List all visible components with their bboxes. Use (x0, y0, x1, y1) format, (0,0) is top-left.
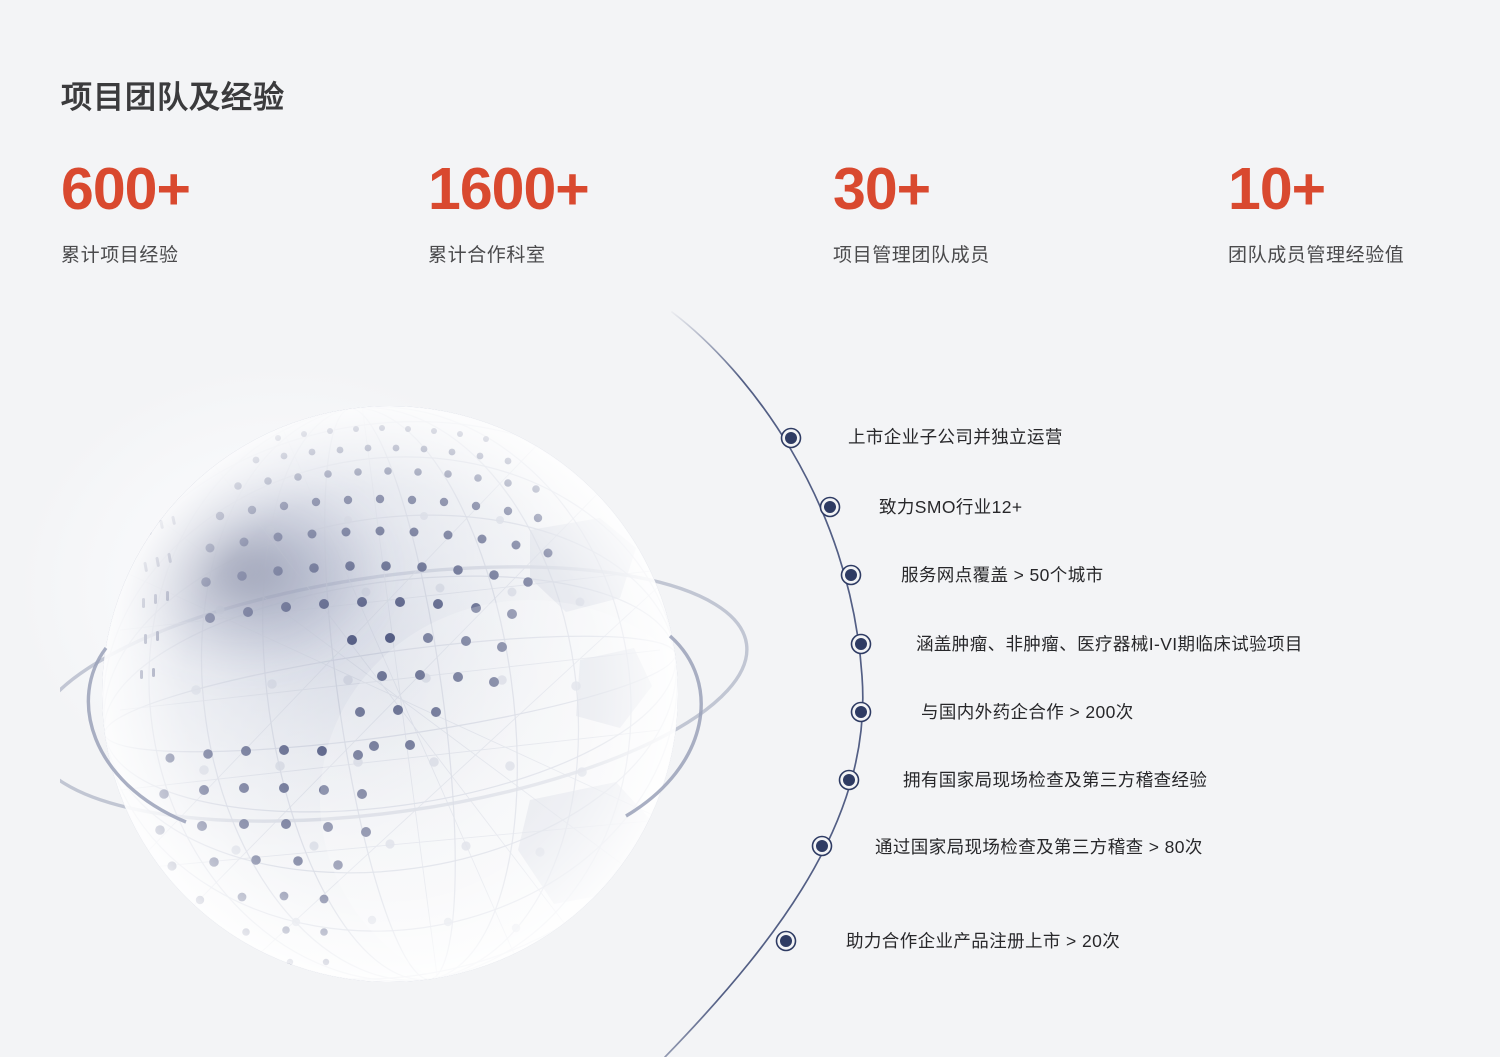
stat-label: 团队成员管理经验值 (1228, 240, 1404, 267)
timeline-marker-ring (852, 703, 871, 722)
timeline-item-label: 与国内外药企合作 > 200次 (921, 702, 1134, 723)
timeline-marker-dot[interactable] (785, 432, 797, 444)
globe-sphere (102, 406, 678, 982)
stat-label: 累计合作科室 (428, 240, 589, 267)
globe-edge-fade (102, 406, 678, 982)
globe-mesh (72, 330, 740, 1057)
globe-illustration (60, 330, 760, 1057)
timeline-item-label: 通过国家局现场检查及第三方稽查 > 80次 (875, 837, 1203, 858)
timeline-marker-ring (777, 932, 796, 951)
timeline-item-label: 拥有国家局现场检查及第三方稽查经验 (903, 770, 1207, 791)
stat-block-accumulated-projects: 600+ 累计项目经验 (61, 160, 190, 267)
timeline-marker-dot[interactable] (845, 569, 857, 581)
timeline-marker-dot[interactable] (780, 935, 792, 947)
timeline-marker-dot[interactable] (855, 638, 867, 650)
timeline-marker-dot[interactable] (816, 840, 828, 852)
timeline-marker-ring (821, 498, 840, 517)
timeline-marker-ring (813, 837, 832, 856)
timeline-item-label: 致力SMO行业12+ (879, 497, 1023, 518)
timeline-item-label: 助力合作企业产品注册上市 > 20次 (846, 931, 1120, 952)
stat-value: 600+ (61, 160, 190, 219)
stat-label: 项目管理团队成员 (833, 240, 990, 267)
globe-land-dots (140, 425, 553, 1014)
stat-block-team-experience-value: 10+ 团队成员管理经验值 (1228, 160, 1404, 267)
timeline-marker-dot[interactable] (843, 774, 855, 786)
slide-root: 项目团队及经验 600+ 累计项目经验 1600+ 累计合作科室 30+ 项目管… (0, 0, 1500, 1057)
globe-far-continents (518, 518, 656, 904)
orbital-ring-back (60, 527, 760, 861)
globe-mesh-nodes (191, 512, 587, 932)
stats-row: 600+ 累计项目经验 1600+ 累计合作科室 30+ 项目管理团队成员 10… (0, 160, 1500, 290)
stat-block-pm-team-members: 30+ 项目管理团队成员 (833, 160, 990, 267)
globe-shadow-blob (92, 466, 392, 674)
orbital-ring-front (88, 636, 701, 822)
stat-value: 10+ (1228, 160, 1404, 219)
timeline-marker-ring (842, 566, 861, 585)
timeline-marker-ring (852, 635, 871, 654)
background-glow (0, 300, 760, 1057)
timeline-item-label: 涵盖肿瘤、非肿瘤、医疗器械I-VI期临床试验项目 (916, 634, 1303, 655)
page-title: 项目团队及经验 (61, 72, 285, 117)
timeline-marker-ring (840, 771, 859, 790)
stat-value: 30+ (833, 160, 990, 219)
timeline-item-label: 服务网点覆盖 > 50个城市 (901, 565, 1104, 586)
timeline-marker-ring (782, 429, 801, 448)
timeline-marker-dot[interactable] (855, 706, 867, 718)
stat-block-partner-departments: 1600+ 累计合作科室 (428, 160, 589, 267)
stat-value: 1600+ (428, 160, 589, 219)
stat-label: 累计项目经验 (61, 240, 190, 267)
timeline-marker-dot[interactable] (824, 501, 836, 513)
timeline-item-label: 上市企业子公司并独立运营 (848, 427, 1063, 448)
